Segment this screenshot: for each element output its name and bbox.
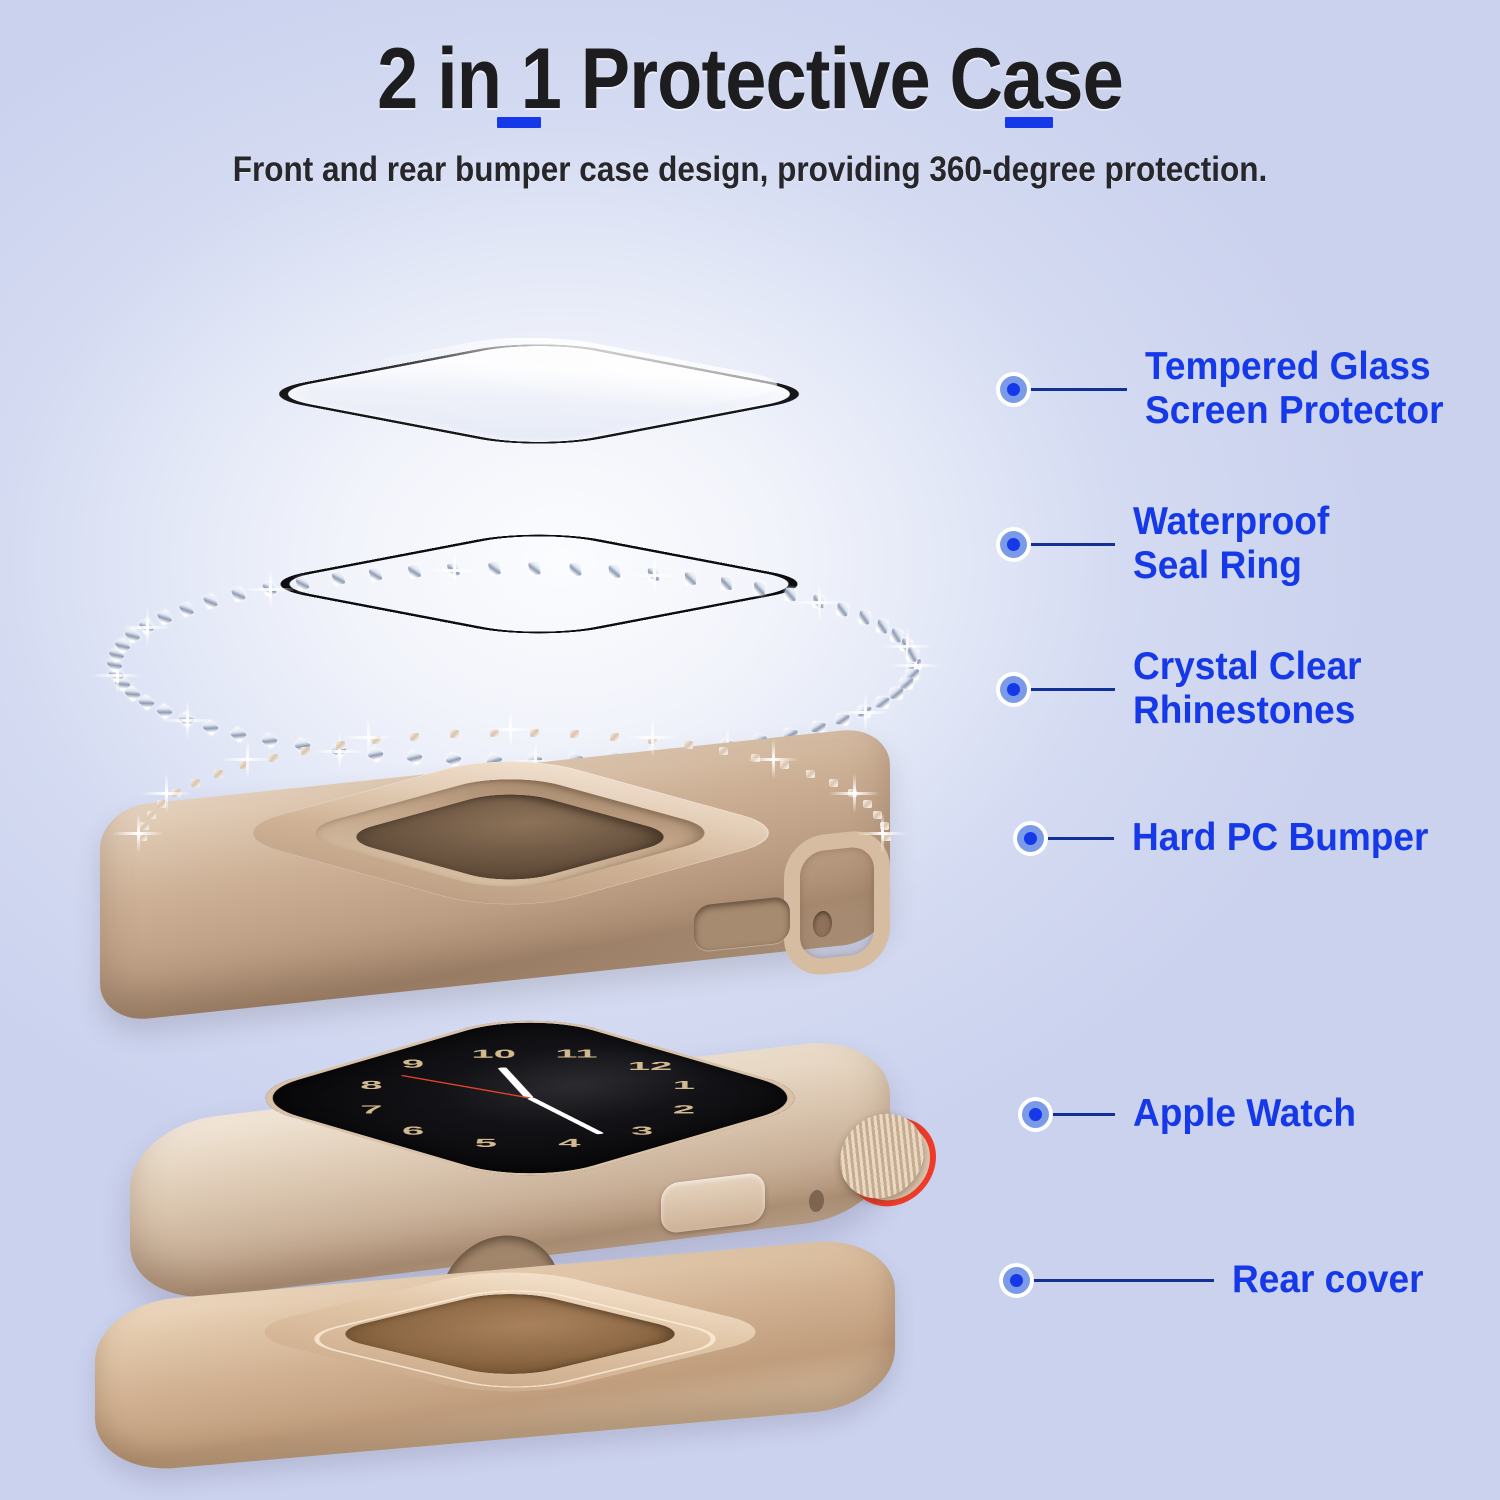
bumper-rim-rhinestone: [829, 779, 838, 787]
bumper-rim-rhinestone: [880, 822, 889, 830]
rhinestone-gem: [528, 561, 541, 575]
exploded-product-diagram: 123456789101112: [0, 0, 1000, 1500]
callout-hard-pc-bumper[interactable]: Hard PC Bumper: [1017, 816, 1444, 860]
callout-bullet-icon: [1000, 376, 1027, 403]
callout-apple-watch[interactable]: Apple Watch: [1022, 1092, 1368, 1136]
bumper-rim-rhinestone: [570, 730, 579, 738]
bumper-rim-rhinestone: [719, 747, 728, 755]
bumper-rim-rhinestone: [751, 754, 760, 762]
callout-label-text: Tempered Glass Screen Protector: [1145, 345, 1444, 433]
callout-leader-line: [1032, 1279, 1214, 1282]
bumper-rim-rhinestone: [610, 733, 619, 741]
callout-label-text: Waterproof Seal Ring: [1133, 500, 1329, 588]
rhinestone-gem: [812, 595, 824, 609]
watch-minute-hand: [527, 1097, 605, 1134]
bumper-rim-rhinestone: [450, 730, 459, 738]
callout-rear-cover[interactable]: Rear cover: [1003, 1258, 1434, 1302]
callout-waterproof-seal-ring[interactable]: Waterproof Seal Ring: [1000, 500, 1340, 588]
rhinestone-gem: [488, 561, 501, 576]
callout-leader-line: [1029, 688, 1115, 691]
bumper-rim-rhinestone: [873, 811, 882, 819]
callout-leader-line: [1029, 388, 1127, 391]
watch-face-numeral: 11: [555, 1047, 597, 1060]
bumper-rim-rhinestone: [269, 754, 278, 762]
callout-leader-line: [1029, 543, 1115, 546]
rhinestone-gem: [262, 581, 277, 597]
infographic-canvas: 2 in 1 Protective Case Front and rear bu…: [0, 0, 1500, 1500]
bumper-rim-rhinestone: [490, 729, 499, 737]
callout-leader-line: [1051, 1113, 1115, 1116]
rhinestone-gem: [178, 601, 194, 617]
title-underline-accent-c: [1005, 117, 1053, 128]
bumper-rim-rhinestone: [780, 761, 789, 769]
watch-face-numeral: 7: [360, 1103, 382, 1116]
bumper-rim-rhinestone: [684, 741, 693, 749]
bumper-rim-rhinestone: [336, 741, 345, 749]
watch-face-numeral: 2: [673, 1103, 695, 1116]
watch-face-numeral: 1: [673, 1079, 695, 1092]
bumper-rim-rhinestone: [172, 789, 181, 797]
rhinestone-gem: [648, 568, 660, 582]
rhinestone-gem: [157, 610, 173, 627]
rhinestone-gem: [875, 619, 888, 634]
callout-label-text: Apple Watch: [1133, 1092, 1356, 1136]
callout-bullet-icon: [1003, 1267, 1030, 1294]
bumper-rim-rhinestone: [863, 800, 872, 808]
rhinestone-gem: [858, 611, 871, 626]
callout-leader-line: [1046, 837, 1114, 840]
rhinestone-gem: [569, 563, 581, 577]
callout-bullet-icon: [1022, 1101, 1049, 1128]
rhinestone-gem: [721, 576, 732, 589]
watch-face-numeral: 9: [402, 1057, 424, 1070]
bumper-rim-rhinestone: [882, 833, 891, 841]
callout-label-text: Crystal Clear Rhinestones: [1133, 645, 1362, 733]
rhinestone-gem: [407, 564, 421, 579]
callout-bullet-icon: [1000, 531, 1027, 558]
bumper-rim-rhinestone: [138, 833, 147, 841]
rhinestone-gem: [889, 687, 903, 699]
watch-face-numeral: 6: [402, 1124, 424, 1137]
rhinestone-gem: [685, 572, 696, 585]
callout-bullet-icon: [1000, 676, 1027, 703]
rhinestone-gem: [203, 594, 218, 610]
rear-cover-part: [95, 1250, 925, 1480]
rhinestone-gem: [296, 575, 311, 591]
bumper-rim-rhinestone: [806, 770, 815, 778]
rhinestone-gem: [125, 627, 141, 644]
bumper-rim-rhinestone: [410, 733, 419, 741]
watch-face-numeral: 3: [631, 1124, 653, 1137]
bumper-rim-rhinestone: [301, 747, 310, 755]
bumper-rim-rhinestone: [214, 770, 223, 778]
bumper-rim-rhinestone: [530, 729, 539, 737]
bumper-rim-rhinestone: [648, 736, 657, 744]
glass-sheen-highlight: [247, 331, 813, 439]
bumper-rim-rhinestone: [191, 779, 200, 787]
watch-face-numeral: 8: [360, 1079, 382, 1092]
callout-tempered-glass-screen-protector[interactable]: Tempered Glass Screen Protector: [1000, 345, 1459, 433]
rhinestone-gem: [139, 618, 155, 635]
bumper-rim-rhinestone: [140, 822, 149, 830]
bumper-rim-rhinestone: [372, 736, 381, 744]
rhinestone-gem: [331, 570, 345, 586]
rhinestone-gem: [369, 567, 383, 582]
bumper-rim-rhinestone: [240, 761, 249, 769]
pc-bumper-part: [70, 705, 950, 1035]
watch-face-numeral: 4: [558, 1137, 580, 1150]
rhinestone-gem: [754, 582, 766, 595]
bumper-rim-rhinestone: [848, 789, 857, 797]
rhinestone-gem: [447, 562, 460, 577]
callout-label-text: Rear cover: [1232, 1258, 1424, 1302]
rhinestone-gem: [609, 565, 621, 579]
watch-face-numeral: 12: [628, 1060, 673, 1073]
bumper-crown-cutout: [784, 827, 890, 978]
callout-bullet-icon: [1017, 825, 1044, 852]
callout-label-text: Hard PC Bumper: [1132, 816, 1428, 860]
watch-face-numeral: 5: [475, 1137, 497, 1150]
bumper-rim-rhinestone: [157, 800, 166, 808]
bumper-rim-rhinestone: [147, 811, 156, 819]
rhinestone-gem: [784, 588, 796, 602]
callout-crystal-clear-rhinestones[interactable]: Crystal Clear Rhinestones: [1000, 645, 1374, 733]
rhinestone-gem: [836, 602, 849, 616]
tempered-glass-part: [130, 290, 930, 480]
watch-face-numeral: 10: [471, 1047, 516, 1060]
rhinestone-gem: [231, 587, 246, 603]
